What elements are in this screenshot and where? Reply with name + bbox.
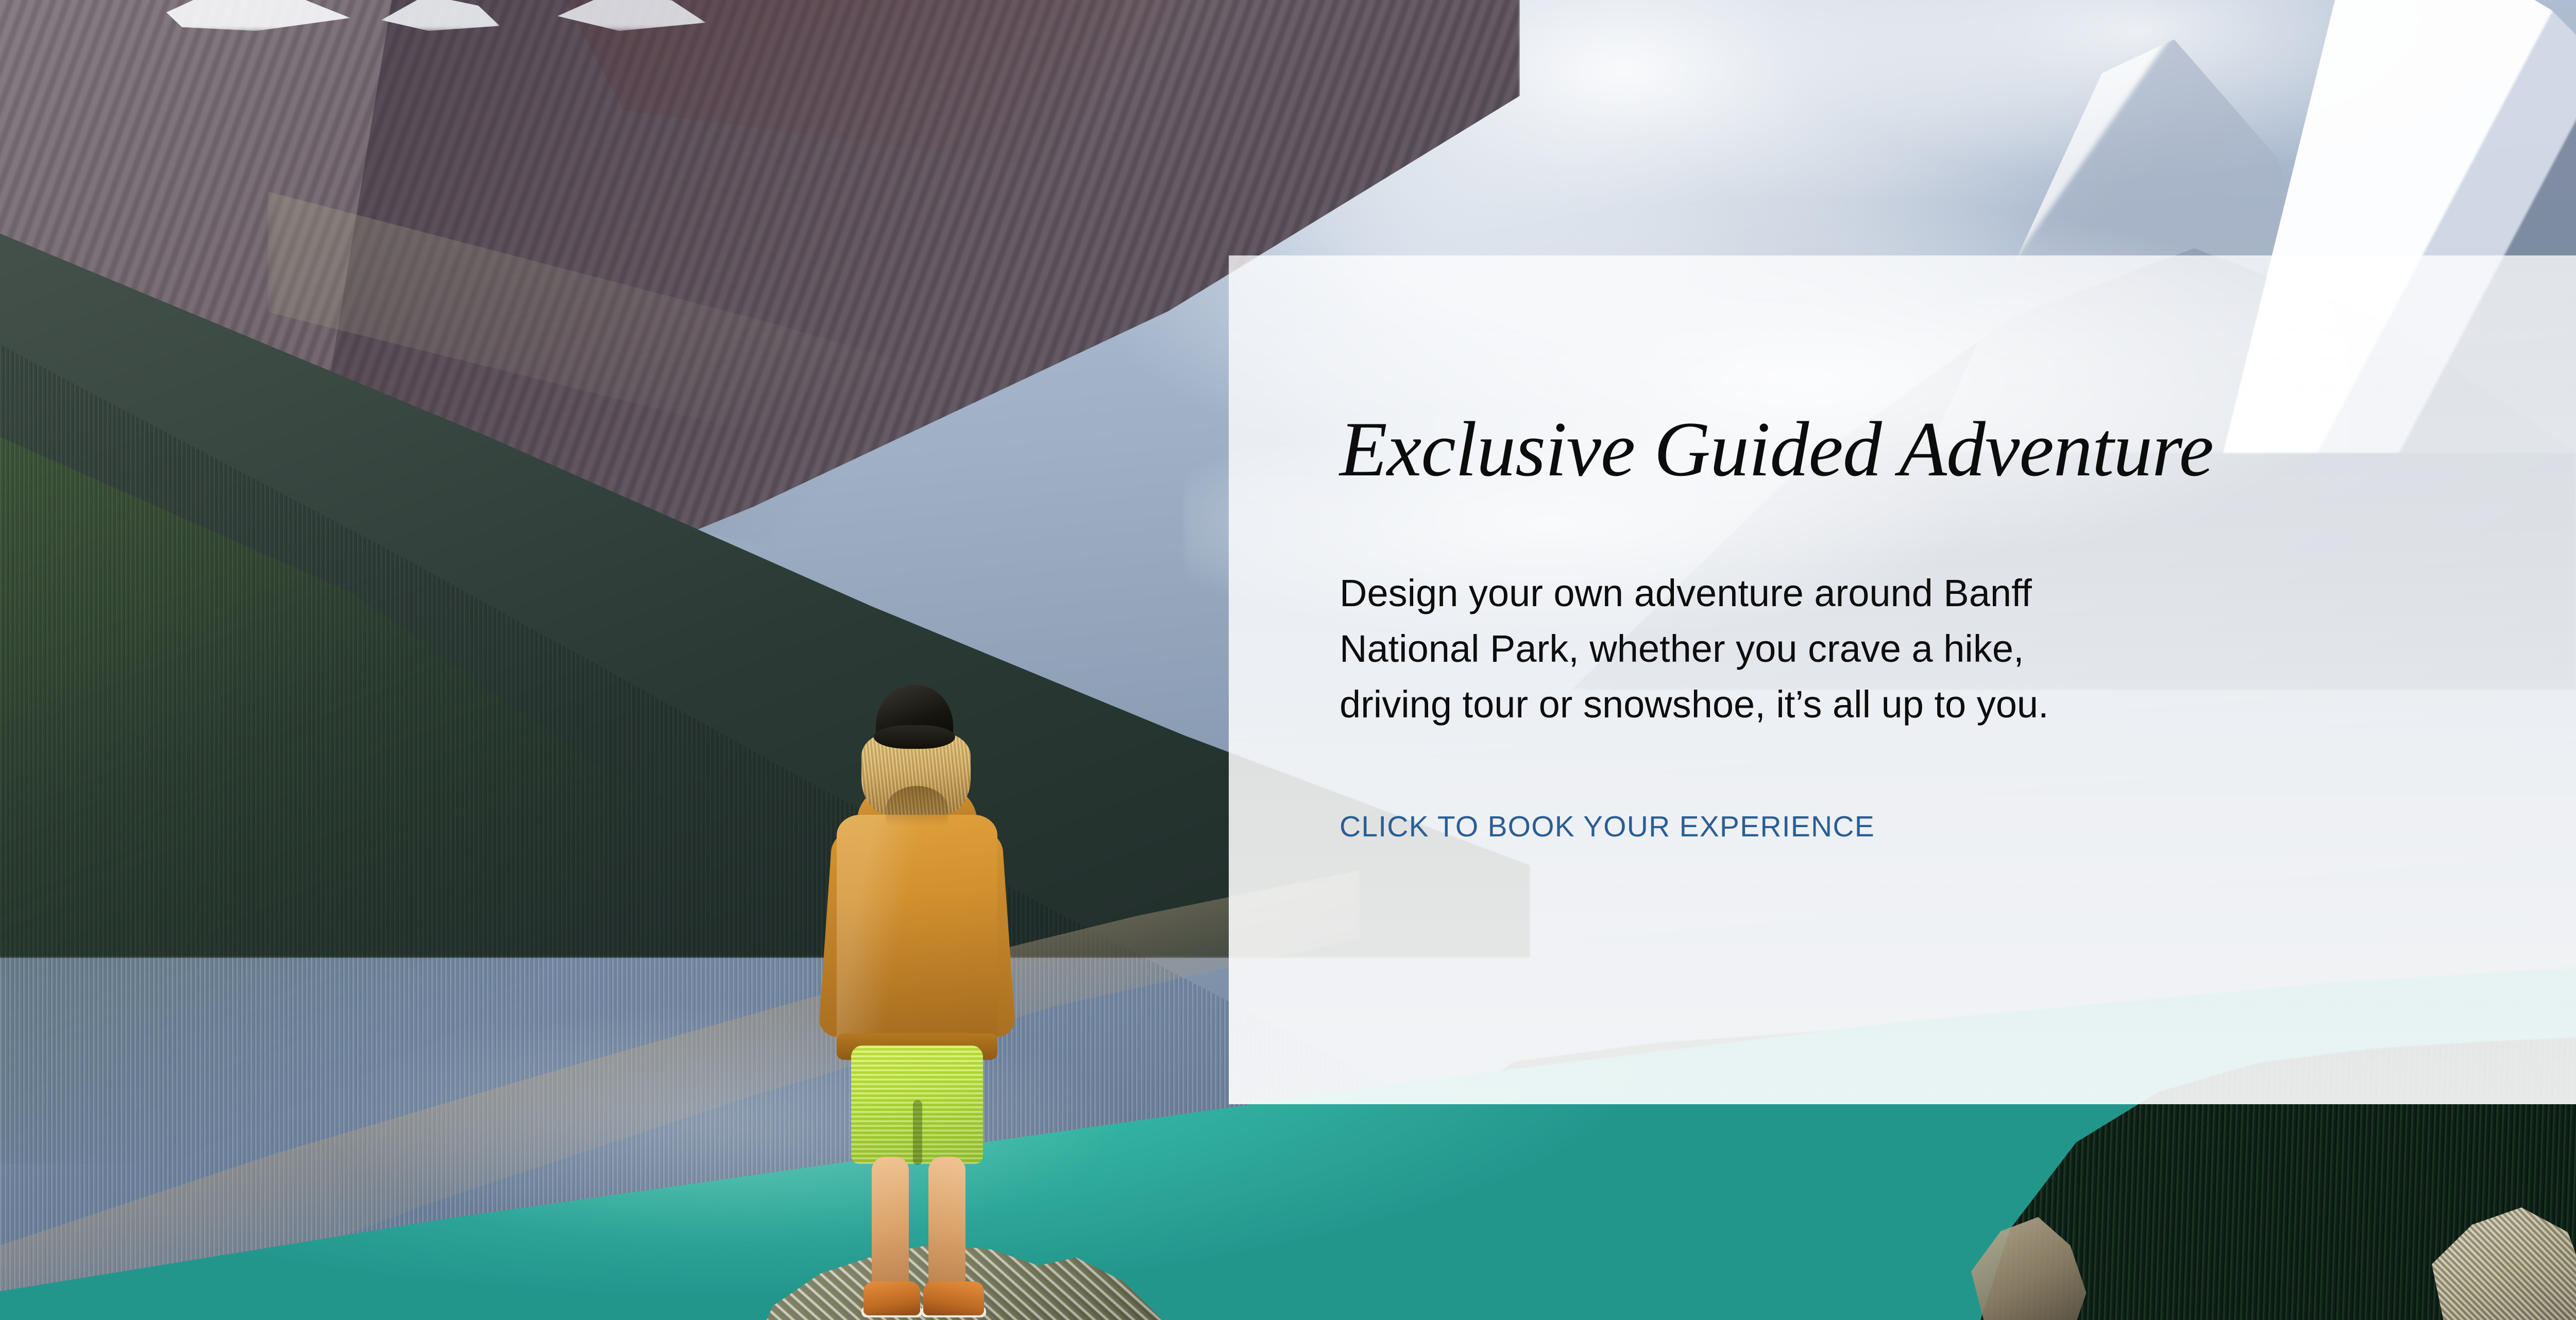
hiker-figure	[814, 685, 1020, 1277]
hero-banner: Exclusive Guided Adventure Design your o…	[0, 0, 2576, 1320]
panel-body-text: Design your own adventure around Banff N…	[1340, 565, 2112, 732]
panel-heading: Exclusive Guided Adventure	[1340, 410, 2576, 488]
beanie-brim	[874, 725, 955, 749]
leg-left	[872, 1157, 909, 1295]
hood-shadow	[886, 786, 948, 826]
shoe-left	[863, 1281, 920, 1315]
shorts-inseam	[913, 1100, 922, 1165]
promo-panel: Exclusive Guided Adventure Design your o…	[1229, 255, 2576, 1104]
book-experience-link[interactable]: CLICK TO BOOK YOUR EXPERIENCE	[1340, 810, 1875, 844]
hoodie-torso	[837, 815, 997, 1057]
shoe-right	[923, 1281, 984, 1315]
leg-right	[928, 1157, 965, 1295]
lake-light-sheen	[103, 979, 1340, 1320]
